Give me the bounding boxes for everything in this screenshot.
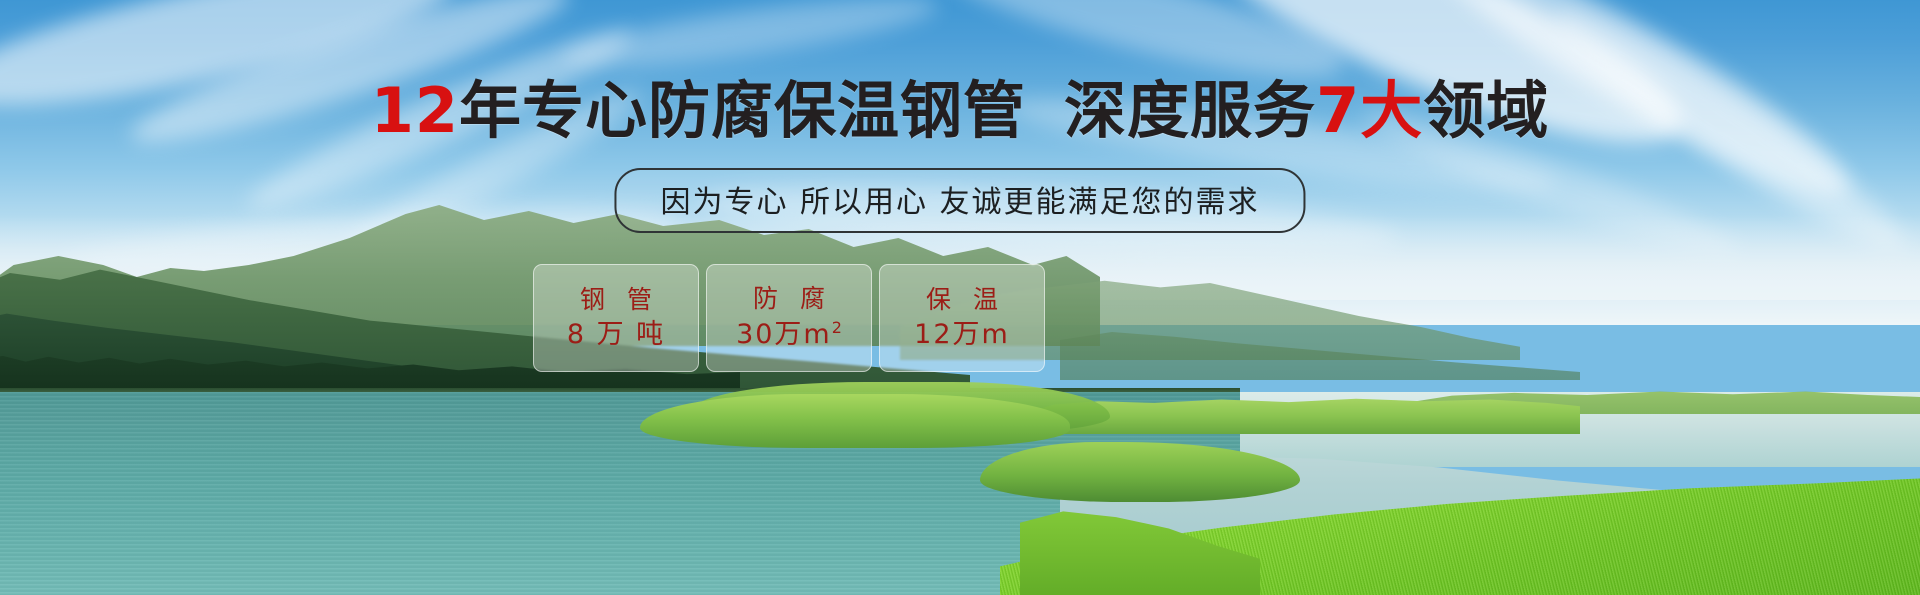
stat-label: 钢 管	[573, 285, 659, 315]
stat-value: 12万m	[914, 319, 1010, 351]
headline-main-text: 年专心防腐保温钢管	[459, 74, 1026, 147]
stat-value: 8 万 吨	[567, 319, 665, 351]
subtitle-text: 因为专心 所以用心 友诚更能满足您的需求	[660, 177, 1259, 221]
stat-value-text: 12万m	[914, 319, 1010, 350]
stat-label: 防 腐	[746, 284, 832, 314]
stat-value-text: 8 万 吨	[567, 319, 665, 350]
stat-card-anticorrosion[interactable]: 防 腐 30万m2	[706, 264, 872, 372]
headline-service-text: 深度服务	[1064, 74, 1316, 147]
headline: 12年专心防腐保温钢管深度服务7大领域	[0, 80, 1920, 142]
grass-island	[640, 394, 1070, 448]
stat-label: 保 温	[919, 285, 1005, 315]
subtitle-pill: 因为专心 所以用心 友诚更能满足您的需求	[614, 168, 1305, 233]
hero-banner: 12年专心防腐保温钢管深度服务7大领域 因为专心 所以用心 友诚更能满足您的需求…	[0, 0, 1920, 595]
cloud-wisp	[559, 0, 941, 80]
stat-card-steel-pipe[interactable]: 钢 管 8 万 吨	[533, 264, 699, 372]
headline-fields-unit: 大	[1360, 74, 1423, 147]
stat-value: 30万m2	[736, 318, 842, 351]
stat-value-text: 30万m	[736, 319, 832, 350]
stat-value-superscript: 2	[832, 318, 842, 337]
stat-card-group: 钢 管 8 万 吨 防 腐 30万m2 保 温 12万m	[533, 264, 1045, 372]
stat-card-insulation[interactable]: 保 温 12万m	[879, 264, 1045, 372]
headline-fields-number: 7	[1316, 74, 1360, 147]
headline-years-number: 12	[371, 74, 459, 147]
headline-fields-text: 领域	[1423, 74, 1549, 147]
